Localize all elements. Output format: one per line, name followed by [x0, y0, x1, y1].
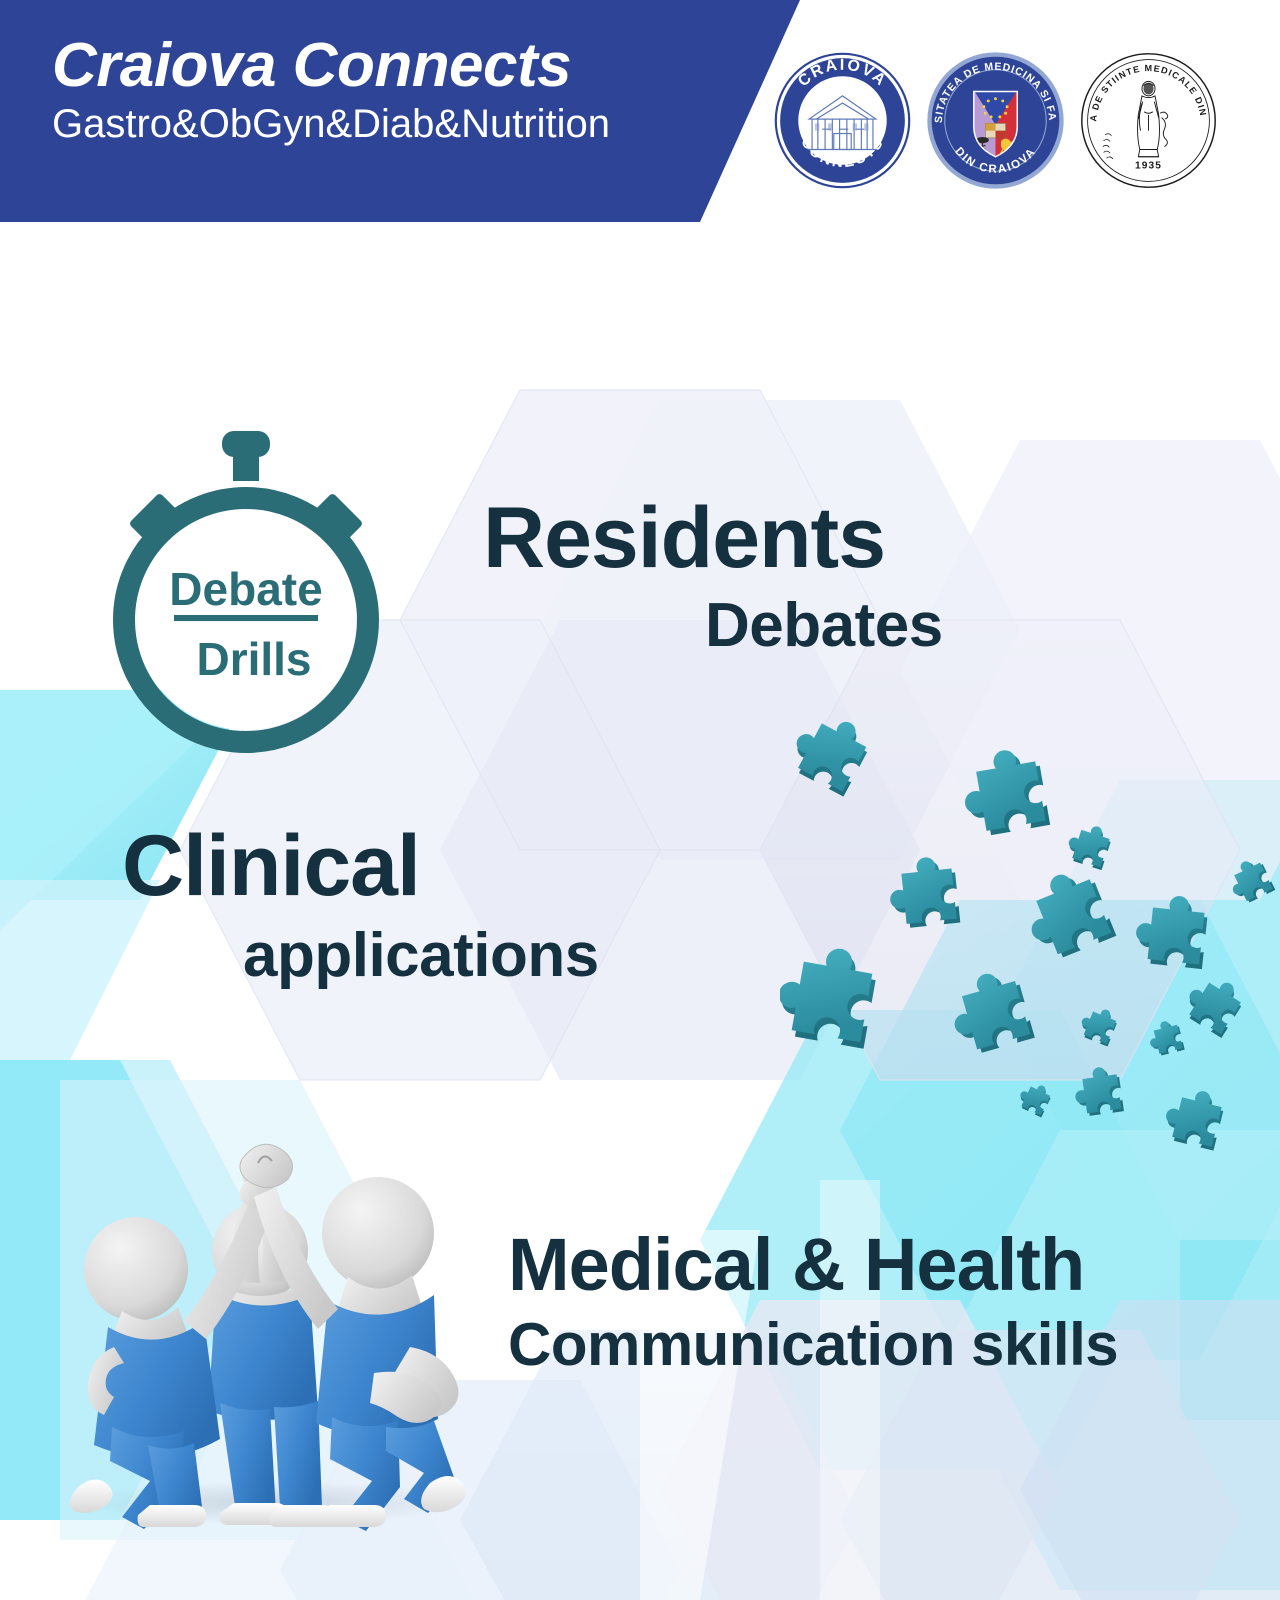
- headline-medical-health: Medical & Health: [508, 1228, 1084, 1302]
- headline-debates: Debates: [705, 595, 943, 657]
- poster-root: Craiova Connects Gastro&ObGyn&Diab&Nutri…: [0, 0, 1280, 1600]
- umf-craiova-seal-icon: UNIVERSITATEA DE MEDICINA SI FARMACIE DI…: [923, 48, 1068, 193]
- clasped-hands: [240, 1144, 293, 1187]
- header-banner: Craiova Connects Gastro&ObGyn&Diab&Nutri…: [0, 0, 1280, 230]
- stopwatch-line2: Drills: [196, 633, 311, 685]
- seal-bottom-text: 1935: [1135, 160, 1162, 171]
- headline-communication-skills: Communication skills: [508, 1315, 1118, 1375]
- academia-stiinte-medicale-seal-icon: ACADEMIA DE STIINTE MEDICALE DIN ROMANIA…: [1076, 48, 1221, 193]
- puzzle-pieces-illustration: [780, 700, 1280, 1170]
- debate-drills-stopwatch-icon: Debate Drills: [86, 425, 406, 755]
- headline-clinical: Clinical: [122, 823, 420, 909]
- headline-applications: applications: [243, 925, 599, 987]
- logo-group: CRAIOVA CONNECTS: [770, 48, 1221, 193]
- headline-residents: Residents: [483, 495, 885, 581]
- brand-title: Craiova Connects: [52, 0, 700, 97]
- brand-subtitle: Gastro&ObGyn&Diab&Nutrition: [52, 97, 700, 145]
- stopwatch-line1: Debate: [169, 563, 322, 615]
- craiova-connects-seal-icon: CRAIOVA CONNECTS: [770, 48, 915, 193]
- banner-text-group: Craiova Connects Gastro&ObGyn&Diab&Nutri…: [0, 0, 700, 145]
- team-highfive-illustration: [38, 1055, 498, 1545]
